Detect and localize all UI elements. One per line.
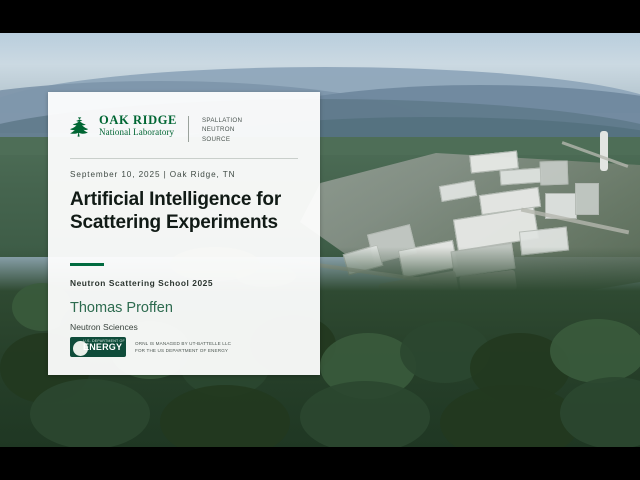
- oak-leaf-icon: [70, 116, 92, 138]
- event-name: Neutron Scattering School 2025: [70, 278, 298, 288]
- letterbox-bar-top: [0, 0, 640, 33]
- doe-footer: U.S. DEPARTMENT OF ENERGY ORNL IS MANAGE…: [70, 337, 231, 357]
- management-disclaimer: ORNL IS MANAGED BY UT-BATTELLE LLC FOR T…: [135, 340, 231, 354]
- date-location: September 10, 2025 | Oak Ridge, TN: [70, 170, 298, 179]
- logo-divider: [188, 116, 189, 142]
- building: [575, 183, 599, 215]
- speaker-affiliation: Neutron Sciences: [70, 322, 298, 332]
- tree: [30, 379, 150, 447]
- title-line-1: Artificial Intelligence for: [70, 188, 298, 212]
- title-card: OAK RIDGE National Laboratory SPALLATION…: [48, 92, 320, 375]
- disclaimer-line-1: ORNL IS MANAGED BY UT-BATTELLE LLC: [135, 340, 231, 347]
- disclaimer-line-2: FOR THE US DEPARTMENT OF ENERGY: [135, 347, 231, 354]
- sns-line-2: NEUTRON: [202, 125, 242, 134]
- title-line-2: Scattering Experiments: [70, 211, 298, 235]
- sns-line-3: SOURCE: [202, 135, 242, 144]
- page-title: Artificial Intelligence for Scattering E…: [70, 188, 298, 235]
- ornl-line1: OAK RIDGE: [99, 114, 177, 127]
- letterbox-bar-bottom: [0, 447, 640, 480]
- tree: [550, 319, 640, 383]
- divider: [70, 158, 298, 159]
- ornl-line2: National Laboratory: [99, 128, 177, 137]
- doe-seal-icon: U.S. DEPARTMENT OF ENERGY: [70, 337, 126, 357]
- sns-facility-name: SPALLATION NEUTRON SOURCE: [202, 114, 242, 144]
- tree: [300, 381, 430, 447]
- ornl-logo: OAK RIDGE National Laboratory SPALLATION…: [70, 114, 298, 144]
- doe-dept-main: ENERGY: [83, 343, 122, 352]
- building: [540, 161, 569, 186]
- accent-rule: [70, 263, 104, 266]
- stack-tower: [600, 131, 608, 171]
- speaker-name: Thomas Proffen: [70, 300, 298, 316]
- building: [500, 168, 543, 186]
- ornl-wordmark: OAK RIDGE National Laboratory: [99, 114, 177, 137]
- sns-line-1: SPALLATION: [202, 116, 242, 125]
- video-frame: OAK RIDGE National Laboratory SPALLATION…: [0, 0, 640, 480]
